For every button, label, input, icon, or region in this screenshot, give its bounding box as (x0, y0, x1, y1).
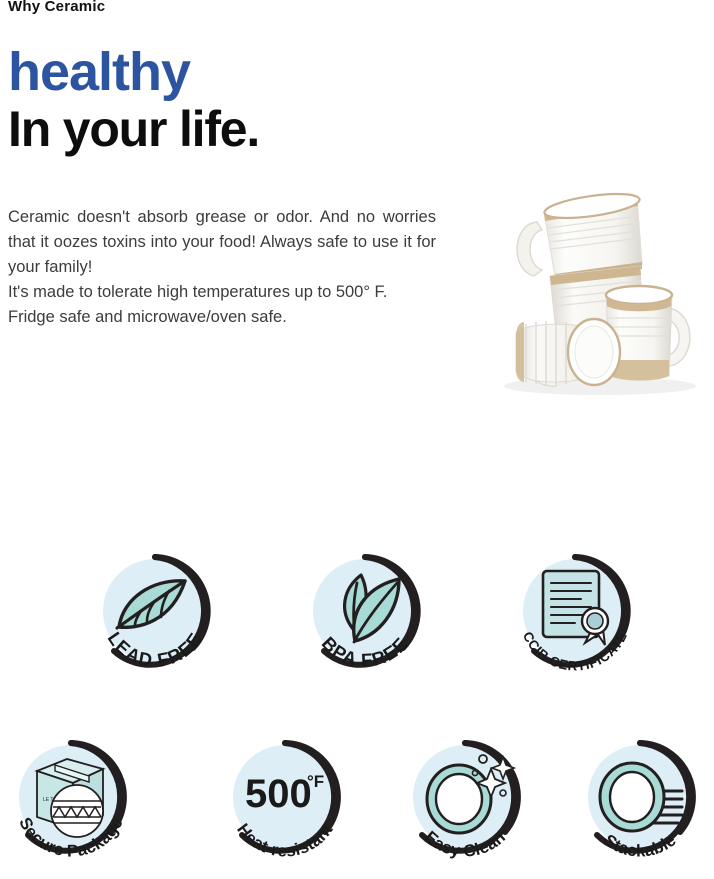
headline-second-line: In your life. (8, 105, 259, 154)
badge-lead-free: LEAD FREE (89, 549, 221, 681)
badge-easy-clean: Easy Clean (399, 735, 531, 867)
product-photo (482, 190, 710, 398)
paragraph-temperature: It's made to tolerate high temperatures … (8, 280, 436, 330)
section-kicker: Why Ceramic (8, 0, 105, 15)
headline-accent-word: healthy (8, 46, 259, 99)
badge-secure-package: LE TAUS Secure Package (5, 735, 137, 867)
page-title: healthy In your life. (8, 46, 259, 154)
badge-heat-resistant: 500 °F Heat-resistant (219, 735, 351, 867)
mug-front-lying (516, 319, 620, 386)
feature-badges: LEAD FREE BPA FREE (0, 525, 714, 879)
body-copy: Ceramic doesn't absorb grease or odor. A… (8, 205, 436, 330)
mug-top (517, 190, 642, 280)
badge-stackable: Stackable (574, 735, 706, 867)
certificate-icon (543, 571, 608, 645)
badge-bpa-free: BPA FREE (299, 549, 431, 681)
temperature-value: 500 (245, 772, 312, 816)
badge-ccib-certificate: CCIB CERTIFICATE (509, 549, 641, 681)
temperature-unit: °F (307, 772, 324, 791)
paragraph-benefits: Ceramic doesn't absorb grease or odor. A… (8, 205, 436, 280)
